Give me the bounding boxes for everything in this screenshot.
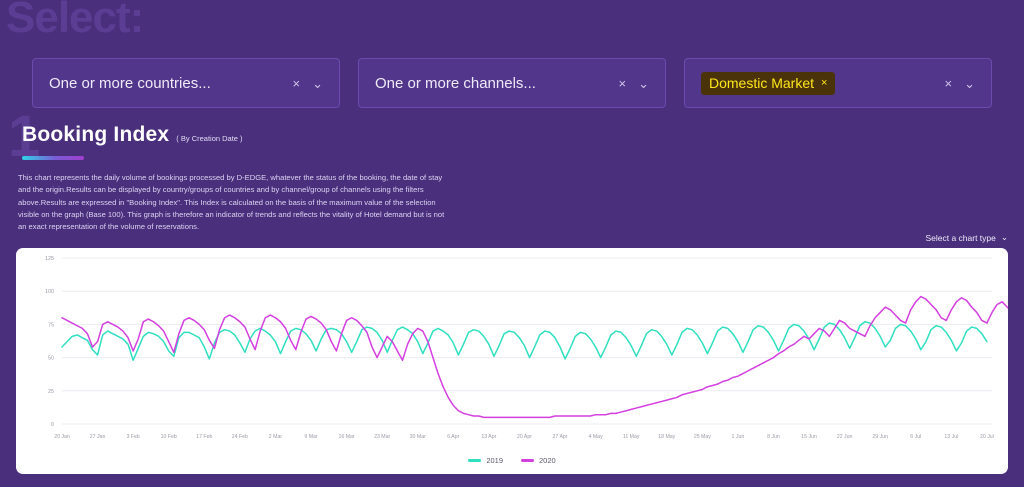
page-subtitle: ( By Creation Date ) (176, 134, 242, 143)
chevron-down-icon: ⌄ (1001, 232, 1008, 243)
svg-text:27 Apr: 27 Apr (553, 434, 568, 440)
chart-description: This chart represents the daily volume o… (18, 172, 446, 233)
select-watermark: Select: (6, 0, 143, 40)
legend-item-2020[interactable]: 2020 (521, 456, 556, 465)
tag-remove-icon[interactable]: × (821, 77, 827, 89)
tag-label: Domestic Market (709, 75, 814, 91)
svg-text:2 Mar: 2 Mar (269, 434, 283, 440)
filter-bar: One or more countries... × ⌄ One or more… (32, 58, 992, 108)
svg-text:22 Jun: 22 Jun (837, 434, 853, 440)
svg-text:17 Feb: 17 Feb (196, 434, 212, 440)
filter-market[interactable]: Domestic Market × × ⌄ (684, 58, 992, 108)
svg-text:50: 50 (48, 356, 54, 362)
chart-type-label: Select a chart type (925, 233, 995, 243)
filter-channels[interactable]: One or more channels... × ⌄ (358, 58, 666, 108)
clear-icon[interactable]: × (609, 77, 637, 90)
legend-swatch-2020 (521, 459, 534, 462)
svg-text:4 May: 4 May (589, 434, 604, 440)
svg-text:24 Feb: 24 Feb (232, 434, 248, 440)
svg-text:23 Mar: 23 Mar (374, 434, 390, 440)
svg-text:25: 25 (48, 389, 54, 395)
svg-text:11 May: 11 May (623, 434, 640, 440)
svg-text:0: 0 (51, 422, 54, 428)
chevron-down-icon[interactable]: ⌄ (962, 77, 981, 90)
tag-domestic-market[interactable]: Domestic Market × (701, 72, 835, 95)
chevron-down-icon[interactable]: ⌄ (636, 77, 655, 90)
svg-text:20 Apr: 20 Apr (517, 434, 532, 440)
svg-text:6 Jul: 6 Jul (910, 434, 921, 440)
svg-text:13 Jul: 13 Jul (944, 434, 958, 440)
svg-text:18 May: 18 May (658, 434, 675, 440)
clear-icon[interactable]: × (935, 77, 963, 90)
legend-label-2020: 2020 (539, 456, 556, 465)
svg-text:3 Feb: 3 Feb (127, 434, 140, 440)
svg-text:10 Feb: 10 Feb (161, 434, 177, 440)
svg-text:6 Apr: 6 Apr (447, 434, 459, 440)
svg-text:16 Mar: 16 Mar (339, 434, 355, 440)
chart-card: 025507510012520 Jan27 Jan3 Feb10 Feb17 F… (16, 248, 1008, 474)
svg-text:125: 125 (45, 256, 54, 262)
legend-swatch-2019 (468, 459, 481, 462)
svg-text:27 Jan: 27 Jan (90, 434, 106, 440)
filter-channels-label: One or more channels... (375, 75, 609, 92)
svg-text:29 Jun: 29 Jun (872, 434, 888, 440)
filter-countries-label: One or more countries... (49, 75, 283, 92)
svg-text:8 Jun: 8 Jun (767, 434, 780, 440)
chevron-down-icon[interactable]: ⌄ (310, 77, 329, 90)
svg-text:15 Jun: 15 Jun (801, 434, 817, 440)
filter-countries[interactable]: One or more countries... × ⌄ (32, 58, 340, 108)
legend-label-2019: 2019 (486, 456, 503, 465)
filter-market-tags: Domestic Market × (701, 72, 935, 95)
page-title: Booking Index (22, 123, 169, 147)
title-underline-rule (22, 156, 84, 160)
svg-text:75: 75 (48, 322, 54, 328)
svg-text:100: 100 (45, 289, 54, 295)
legend-item-2019[interactable]: 2019 (468, 456, 503, 465)
svg-text:9 Mar: 9 Mar (304, 434, 318, 440)
svg-text:1 Jun: 1 Jun (732, 434, 745, 440)
svg-text:30 Mar: 30 Mar (410, 434, 426, 440)
chart-legend: 2019 2020 (16, 456, 1008, 465)
svg-text:13 Apr: 13 Apr (481, 434, 496, 440)
svg-text:20 Jul: 20 Jul (980, 434, 994, 440)
chart-heading: Booking Index ( By Creation Date ) (22, 123, 582, 160)
svg-text:20 Jan: 20 Jan (54, 434, 70, 440)
chart-type-selector[interactable]: Select a chart type ⌄ (925, 232, 1008, 243)
svg-text:25 May: 25 May (694, 434, 711, 440)
booking-index-page: Select: 1 One or more countries... × ⌄ O… (0, 0, 1024, 487)
booking-index-line-chart[interactable]: 025507510012520 Jan27 Jan3 Feb10 Feb17 F… (16, 248, 1008, 448)
clear-icon[interactable]: × (283, 77, 311, 90)
